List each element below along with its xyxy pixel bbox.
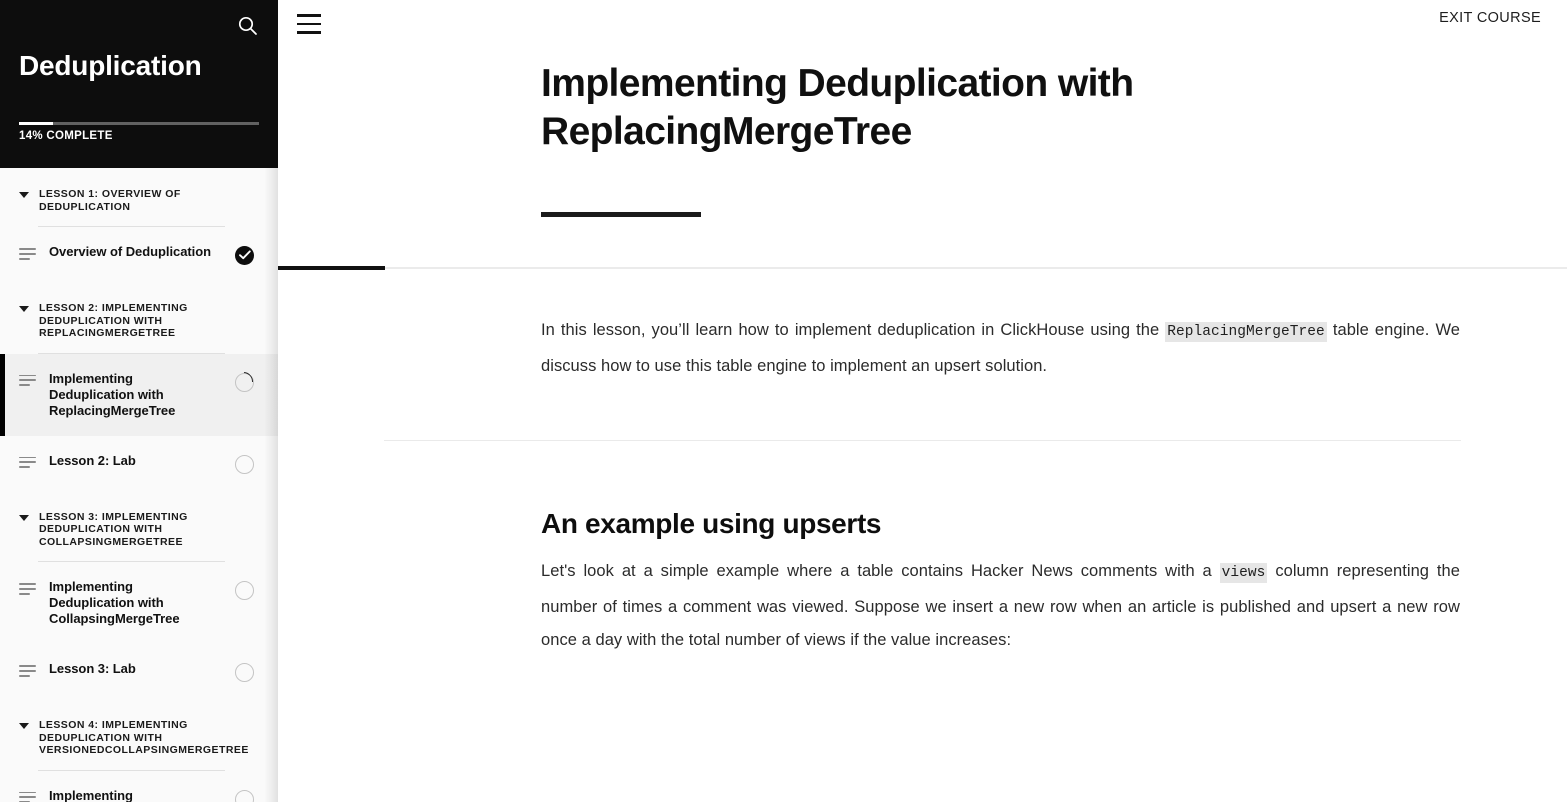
lesson-group-title: LESSON 2: IMPLEMENTING DEDUPLICATION WIT… [39, 302, 239, 340]
hamburger-menu-icon[interactable] [295, 12, 329, 38]
lesson-item-label: Implementing Deduplication with [49, 788, 222, 802]
course-progress-fill [19, 122, 53, 125]
status-badge-incomplete [235, 455, 254, 474]
section-heading: An example using upserts [541, 507, 1460, 541]
lesson-group-header[interactable]: LESSON 4: IMPLEMENTING DEDUPLICATION WIT… [0, 699, 278, 771]
lesson-lines-icon [19, 457, 36, 469]
lesson-lines-icon [19, 583, 36, 595]
chevron-down-icon[interactable] [19, 723, 29, 729]
status-badge-incomplete [235, 581, 254, 600]
course-title: Deduplication [19, 48, 202, 84]
lesson-item-label: Overview of Deduplication [49, 244, 222, 260]
lesson-group-header[interactable]: LESSON 3: IMPLEMENTING DEDUPLICATION WIT… [0, 491, 278, 563]
lesson-lines-icon [19, 248, 36, 260]
article-header: Implementing Deduplication with Replacin… [278, 46, 1567, 217]
lesson-group-header[interactable]: LESSON 2: IMPLEMENTING DEDUPLICATION WIT… [0, 282, 278, 354]
exit-course-button[interactable]: EXIT COURSE [1439, 10, 1541, 26]
lesson-group-title: LESSON 4: IMPLEMENTING DEDUPLICATION WIT… [39, 719, 239, 757]
lesson-item-label: Lesson 2: Lab [49, 453, 222, 469]
lesson-group-title: LESSON 3: IMPLEMENTING DEDUPLICATION WIT… [39, 511, 239, 549]
lesson-lines-icon [19, 792, 36, 802]
article-body: In this lesson, you’ll learn how to impl… [278, 314, 1567, 658]
intro-text-part-1: In this lesson, you’ll learn how to impl… [541, 321, 1165, 339]
course-progress-bar [19, 122, 259, 125]
search-icon[interactable] [233, 11, 261, 39]
lesson-item-label: Implementing Deduplication with Collapsi… [49, 579, 222, 627]
chevron-down-icon[interactable] [19, 515, 29, 521]
lesson-item-implementing-deduplication-with-versionedcollapsingmergetree[interactable]: Implementing Deduplication with [0, 771, 278, 802]
lesson-group-header[interactable]: LESSON 1: OVERVIEW OF DEDUPLICATION [0, 168, 278, 227]
intro-paragraph: In this lesson, you’ll learn how to impl… [541, 314, 1460, 383]
course-progress-label: 14% COMPLETE [19, 130, 113, 142]
section-paragraph: Let's look at a simple example where a t… [541, 555, 1460, 658]
lesson-item-lesson-2-lab[interactable]: Lesson 2: Lab [0, 436, 278, 491]
content-topbar: EXIT COURSE [278, 0, 1567, 46]
section-divider [384, 440, 1461, 441]
status-badge-in-progress [235, 373, 254, 392]
page-title: Implementing Deduplication with Replacin… [541, 60, 1241, 156]
inline-code-views: views [1220, 563, 1268, 583]
lesson-list[interactable]: LESSON 1: OVERVIEW OF DEDUPLICATION Over… [0, 168, 278, 802]
lesson-lines-icon [19, 375, 36, 387]
lesson-item-label: Lesson 3: Lab [49, 661, 222, 677]
status-badge-incomplete [235, 790, 254, 802]
lesson-lines-icon [19, 665, 36, 677]
lesson-item-overview-of-deduplication[interactable]: Overview of Deduplication [0, 227, 278, 282]
lesson-item-lesson-3-lab[interactable]: Lesson 3: Lab [0, 644, 278, 699]
title-underline-rule [541, 212, 701, 217]
lesson-progress-bar [278, 267, 1567, 269]
lesson-progress-fill [278, 266, 385, 270]
status-badge-complete [235, 246, 254, 265]
chevron-down-icon[interactable] [19, 192, 29, 198]
lesson-item-implementing-deduplication-with-replacingmergetree[interactable]: Implementing Deduplication with Replacin… [0, 354, 278, 436]
course-sidebar: Deduplication 14% COMPLETE LESSON 1: OVE… [0, 0, 278, 802]
status-badge-incomplete [235, 663, 254, 682]
lesson-content: EXIT COURSE Implementing Deduplication w… [278, 0, 1567, 802]
lesson-item-implementing-deduplication-with-collapsingmergetree[interactable]: Implementing Deduplication with Collapsi… [0, 562, 278, 644]
chevron-down-icon[interactable] [19, 306, 29, 312]
course-page: Deduplication 14% COMPLETE LESSON 1: OVE… [0, 0, 1567, 802]
sidebar-header: Deduplication 14% COMPLETE [0, 0, 278, 168]
lesson-group-title: LESSON 1: OVERVIEW OF DEDUPLICATION [39, 188, 239, 213]
lesson-item-label: Implementing Deduplication with Replacin… [49, 371, 222, 419]
section-text-part-1: Let's look at a simple example where a t… [541, 562, 1220, 580]
inline-code-replacingmergetree: ReplacingMergeTree [1165, 322, 1327, 342]
